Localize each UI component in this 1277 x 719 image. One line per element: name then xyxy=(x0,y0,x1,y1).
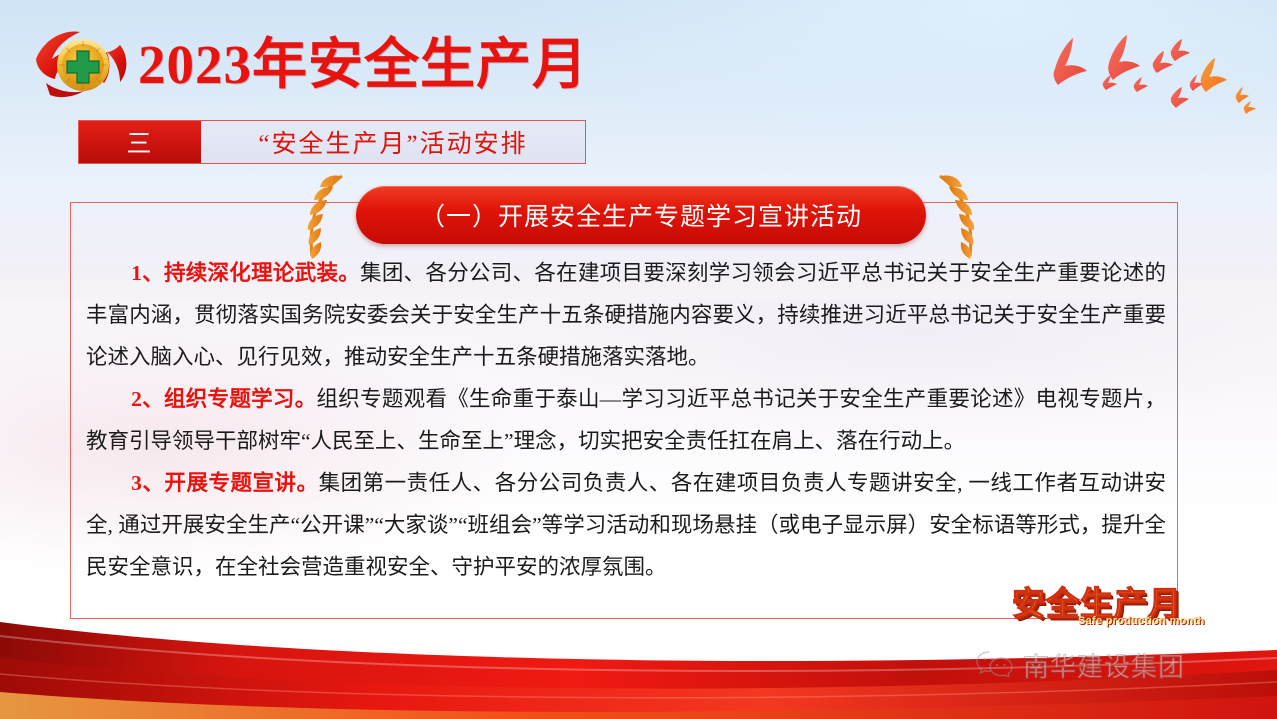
safety-production-emblem-icon xyxy=(24,25,142,103)
laurel-branch-icon xyxy=(296,172,354,260)
subsection-pill-label: （一）开展安全生产专题学习宣讲活动 xyxy=(420,197,862,233)
flying-doves-icon xyxy=(1025,25,1270,125)
paragraph-2: 2、组织专题学习。组织专题观看《生命重于泰山—学习习近平总书记关于安全生产重要论… xyxy=(86,378,1166,462)
page-title: 2023年安全生产月 xyxy=(138,37,588,92)
paragraph-1: 1、持续深化理论武装。集团、各分公司、各在建项目要深刻学习领会习近平总书记关于安… xyxy=(86,252,1166,378)
slide-canvas: 2023年安全生产月 三 “安全生产月”活动安排 xyxy=(0,0,1277,719)
paragraph-1-lead: 1、持续深化理论武装。 xyxy=(131,261,360,285)
paragraph-3-lead: 3、开展专题宣讲。 xyxy=(131,471,318,495)
paragraph-2-lead: 2、组织专题学习。 xyxy=(131,387,316,411)
body-text: 1、持续深化理论武装。集团、各分公司、各在建项目要深刻学习领会习近平总书记关于安… xyxy=(86,252,1166,588)
footer-account-name: 南华建设集团 xyxy=(1023,647,1185,684)
section-number: 三 xyxy=(79,121,201,163)
subsection-pill: （一）开展安全生产专题学习宣讲活动 xyxy=(356,186,926,244)
subsection-heading: （一）开展安全生产专题学习宣讲活动 xyxy=(296,172,986,260)
wechat-icon xyxy=(975,649,1015,682)
section-title: “安全生产月”活动安排 xyxy=(201,121,585,163)
title-row: 2023年安全生产月 xyxy=(24,28,588,100)
footer-watermark: 南华建设集团 xyxy=(975,648,1185,682)
laurel-branch-icon xyxy=(928,172,986,260)
section-header-bar: 三 “安全生产月”活动安排 xyxy=(78,120,586,164)
paragraph-3: 3、开展专题宣讲。集团第一责任人、各分公司负责人、各在建项目负责人专题讲安全, … xyxy=(86,462,1166,588)
